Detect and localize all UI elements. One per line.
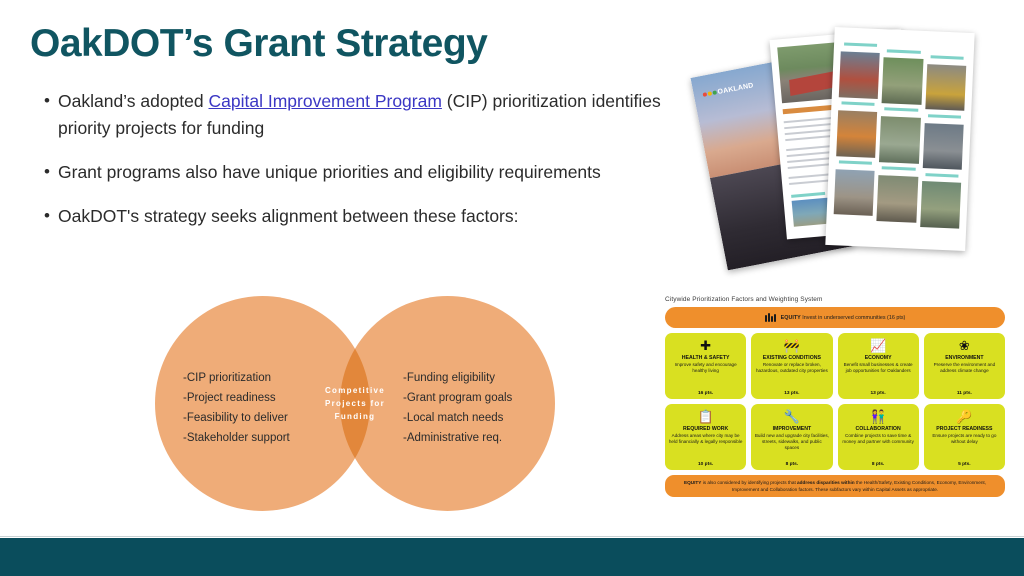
- factor-points: 10 pts.: [698, 462, 713, 467]
- venn-left-item: -Stakeholder support: [183, 428, 290, 448]
- factor-points: 8 pts.: [872, 462, 885, 467]
- photo-caption-bar: [884, 108, 918, 112]
- venn-left-item: -CIP prioritization: [183, 368, 290, 388]
- health-cross-icon: ✚: [700, 337, 711, 354]
- venn-right-item: -Grant program goals: [403, 388, 512, 408]
- tree-icon: ❀: [959, 337, 970, 354]
- people-icon: [765, 313, 776, 322]
- venn-right-items: -Funding eligibility -Grant program goal…: [403, 368, 512, 449]
- equity-banner-desc: Invest in underserved communities (16 pt…: [801, 315, 906, 321]
- factor-card-economy[interactable]: 📈 ECONOMY Benefit small businesses & cre…: [838, 333, 919, 399]
- photo-caption-bar: [791, 192, 825, 198]
- logo-dot-red: [703, 92, 708, 97]
- equity-note-lead: EQUITY: [684, 480, 701, 485]
- venn-right-item: -Local match needs: [403, 408, 512, 428]
- factor-desc: Combine projects to save time & money an…: [841, 433, 916, 445]
- factor-card-existing-conditions[interactable]: 🚧 EXISTING CONDITIONS Renovate or replac…: [751, 333, 832, 399]
- equity-note-bold: address disparities within: [797, 480, 855, 485]
- footer-divider: [0, 536, 1024, 537]
- grid-photo: [839, 51, 880, 98]
- logo-dot-yellow: [707, 91, 712, 96]
- equity-note-part1: is also considered by identifying projec…: [701, 480, 797, 485]
- factor-desc: Improve safety and encourage healthy liv…: [668, 362, 743, 374]
- panel-title: Citywide Prioritization Factors and Weig…: [665, 296, 1005, 303]
- bullet-list: • Oakland’s adopted Capital Improvement …: [36, 88, 676, 248]
- factor-title: PROJECT READINESS: [936, 426, 992, 432]
- logo-dot-green: [712, 90, 717, 95]
- photo-caption-bar: [928, 114, 962, 118]
- grid-photo: [920, 181, 961, 228]
- grid-photo: [882, 58, 923, 105]
- grid-photo: [836, 110, 877, 157]
- photo-caption-bar: [887, 49, 921, 53]
- broken-building-icon: 🚧: [784, 337, 800, 354]
- venn-right-item: -Funding eligibility: [403, 368, 512, 388]
- factor-points: 13 pts.: [871, 391, 886, 396]
- wrench-icon: 🔧: [784, 408, 800, 425]
- grid-photo: [877, 175, 918, 222]
- factor-points: 13 pts.: [784, 391, 799, 396]
- factor-title: REQUIRED WORK: [683, 426, 728, 432]
- clipboard-icon: 📋: [698, 408, 714, 425]
- page-title: OakDOT’s Grant Strategy: [30, 22, 487, 66]
- factor-points: 11 pts.: [957, 391, 972, 396]
- venn-left-item: -Feasibility to deliver: [183, 408, 290, 428]
- venn-overlap-label: Competitive Projects for Funding: [315, 384, 395, 424]
- factor-card-required-work[interactable]: 📋 REQUIRED WORK Address areas where city…: [665, 404, 746, 470]
- factor-title: IMPROVEMENT: [773, 426, 812, 432]
- factor-desc: Renovate or replace broken, hazardous, o…: [754, 362, 829, 374]
- grid-photo: [834, 169, 875, 216]
- factor-desc: Benefit small businesses & create job op…: [841, 362, 916, 374]
- photo-caption-bar: [844, 43, 878, 47]
- list-item: • OakDOT's strategy seeks alignment betw…: [36, 203, 676, 230]
- factor-card-health-safety[interactable]: ✚ HEALTH & SAFETY Improve safety and enc…: [665, 333, 746, 399]
- factor-desc: Build new and upgrade city facilities, s…: [754, 433, 829, 452]
- cip-report-photo-grid-page: [825, 27, 974, 251]
- factor-points: 8 pts.: [786, 462, 799, 467]
- equity-banner: EQUITY Invest in underserved communities…: [665, 307, 1005, 328]
- factor-title: HEALTH & SAFETY: [682, 355, 730, 361]
- factor-card-collaboration[interactable]: 👫 COLLABORATION Combine projects to save…: [838, 404, 919, 470]
- photo-caption-bar: [841, 102, 875, 106]
- factor-points: 5 pts.: [958, 462, 971, 467]
- equity-banner-text: EQUITY Invest in underserved communities…: [781, 315, 906, 321]
- footer-bar: [0, 538, 1024, 576]
- bullet-marker: •: [36, 203, 58, 230]
- factor-desc: Address areas where city may be held fin…: [668, 433, 743, 445]
- factor-points: 16 pts.: [698, 391, 713, 396]
- capital-improvement-program-link[interactable]: Capital Improvement Program: [209, 91, 442, 111]
- report-documents-image: OAKLAND: [690, 12, 1020, 284]
- factor-desc: Ensure projects are ready to go without …: [927, 433, 1002, 445]
- factor-desc: Preserve the environment and address cli…: [927, 362, 1002, 374]
- photo-caption-bar: [925, 173, 959, 177]
- list-item: • Grant programs also have unique priori…: [36, 159, 676, 186]
- list-item: • Oakland’s adopted Capital Improvement …: [36, 88, 676, 142]
- factor-card-improvement[interactable]: 🔧 IMPROVEMENT Build new and upgrade city…: [751, 404, 832, 470]
- bullet-text-before: Oakland’s adopted: [58, 91, 209, 111]
- grid-photo: [925, 64, 966, 111]
- bullet-marker: •: [36, 88, 58, 142]
- prioritization-panel: Citywide Prioritization Factors and Weig…: [665, 296, 1005, 518]
- bullet-marker: •: [36, 159, 58, 186]
- factor-title: EXISTING CONDITIONS: [763, 355, 821, 361]
- factor-title: ENVIRONMENT: [945, 355, 983, 361]
- key-icon: 🔑: [956, 408, 972, 425]
- bullet-text: Grant programs also have unique prioriti…: [58, 159, 601, 186]
- photo-caption-bar: [930, 55, 964, 59]
- equity-note: EQUITY is also considered by identifying…: [665, 475, 1005, 497]
- grid-photo: [879, 116, 920, 163]
- factor-cards: ✚ HEALTH & SAFETY Improve safety and enc…: [665, 333, 1005, 470]
- photo-caption-bar: [882, 167, 916, 171]
- grid-photo: [923, 123, 964, 170]
- equity-banner-label: EQUITY: [781, 315, 801, 321]
- factor-card-project-readiness[interactable]: 🔑 PROJECT READINESS Ensure projects are …: [924, 404, 1005, 470]
- factor-card-environment[interactable]: ❀ ENVIRONMENT Preserve the environment a…: [924, 333, 1005, 399]
- venn-diagram: -CIP prioritization -Project readiness -…: [155, 296, 555, 511]
- bullet-text: Oakland’s adopted Capital Improvement Pr…: [58, 88, 676, 142]
- venn-right-item: -Administrative req.: [403, 428, 512, 448]
- bar-chart-growth-icon: 📈: [870, 337, 886, 354]
- venn-left-item: -Project readiness: [183, 388, 290, 408]
- factor-title: COLLABORATION: [856, 426, 901, 432]
- people-collaboration-icon: 👫: [870, 408, 886, 425]
- venn-left-items: -CIP prioritization -Project readiness -…: [183, 368, 290, 449]
- factor-title: ECONOMY: [865, 355, 892, 361]
- bullet-text: OakDOT's strategy seeks alignment betwee…: [58, 203, 519, 230]
- photo-caption-bar: [839, 160, 873, 164]
